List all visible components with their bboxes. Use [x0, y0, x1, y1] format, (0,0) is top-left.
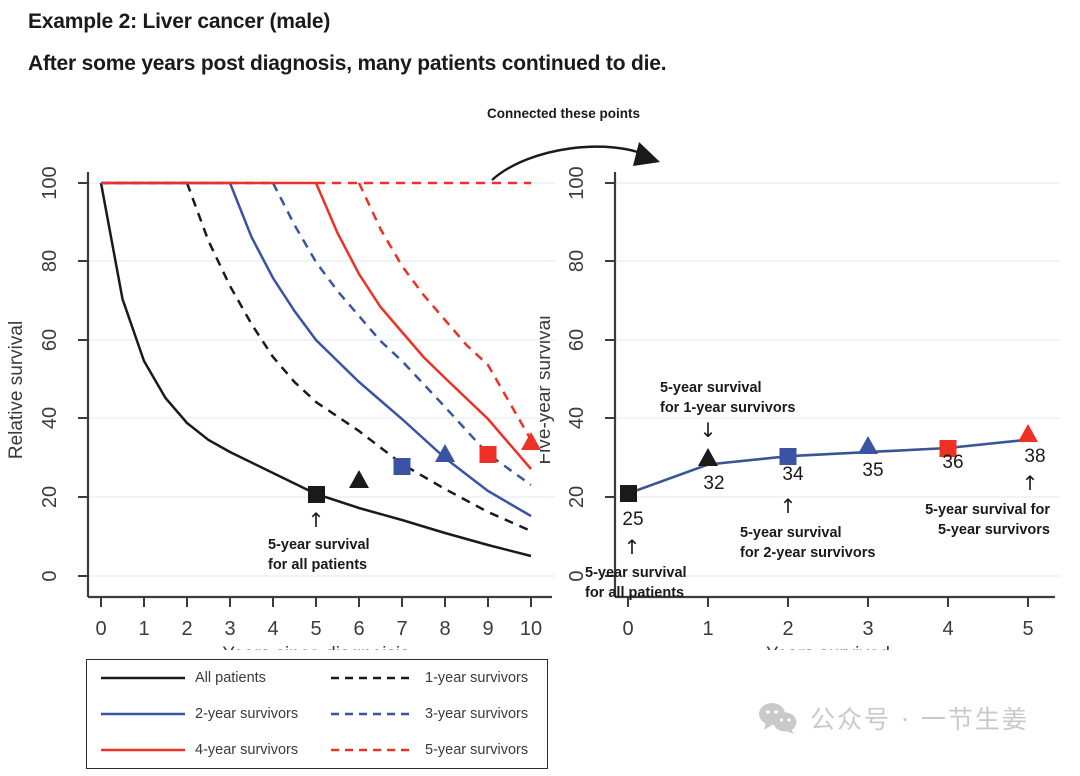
point-label-0: 25 [622, 509, 643, 530]
svg-text:0: 0 [622, 618, 633, 640]
right-marker-square-black [620, 485, 637, 502]
right-ann-1yr-line1: 5-year survival [660, 380, 762, 396]
legend-item-1yr: 1-year survivors [317, 670, 547, 686]
chart-legend: All patients 1-year survivors 2-year sur… [86, 659, 548, 769]
marker-square-red [480, 446, 497, 463]
left-annotation-arrow: ↑ [308, 508, 325, 532]
svg-text:80: 80 [566, 250, 588, 272]
svg-text:2: 2 [782, 618, 793, 640]
legend-item-all-patients: All patients [87, 670, 317, 686]
point-label-1: 32 [703, 473, 724, 494]
right-ann-5yr-arrow: ↑ [1022, 471, 1039, 495]
point-label-5: 38 [1024, 446, 1045, 467]
marker-triangle-red [521, 432, 541, 450]
marker-square-blue [394, 458, 411, 475]
left-annotation-line1: 5-year survival [268, 537, 370, 553]
right-ann-all-line2: for all patients [585, 585, 684, 601]
legend-label-2yr: 2-year survivors [195, 706, 298, 722]
slide-title-line-1: Example 2: Liver cancer (male) [28, 10, 330, 34]
right-chart-trend-line [628, 440, 1028, 494]
marker-triangle-black [349, 470, 369, 488]
svg-text:40: 40 [566, 407, 588, 429]
legend-label-3yr: 3-year survivors [425, 706, 528, 722]
legend-item-4yr: 4-year survivors [87, 742, 317, 758]
right-ann-2yr-line2: for 2-year survivors [740, 545, 875, 561]
point-label-2: 34 [782, 464, 804, 485]
svg-text:3: 3 [862, 618, 873, 640]
svg-text:4: 4 [942, 618, 953, 640]
legend-item-3yr: 3-year survivors [317, 706, 547, 722]
legend-item-2yr: 2-year survivors [87, 706, 317, 722]
slide-title-line-2: After some years post diagnosis, many pa… [28, 52, 666, 76]
right-ann-1yr-line2: for 1-year survivors [660, 400, 795, 416]
legend-swatch-2yr [101, 707, 185, 721]
right-ann-2yr-line1: 5-year survival [740, 525, 842, 541]
right-ann-1yr-arrow: ↓ [700, 418, 717, 442]
legend-label-all-patients: All patients [195, 670, 266, 686]
legend-label-1yr: 1-year survivors [425, 670, 528, 686]
legend-swatch-5yr [331, 743, 415, 757]
right-chart-y-ticklabels: 100 80 60 40 20 0 [566, 166, 588, 581]
right-ann-all-line1: 5-year survival [585, 565, 687, 581]
point-label-4: 36 [942, 452, 963, 473]
series-2yr-line [230, 183, 531, 516]
svg-text:100: 100 [566, 166, 588, 199]
svg-text:60: 60 [566, 329, 588, 351]
right-chart-x-ticklabels: 0 1 2 3 4 5 [622, 618, 1033, 640]
connected-points-annotation: Connected these points [487, 106, 640, 121]
legend-swatch-all-patients [101, 671, 185, 685]
left-annotation-line2: for all patients [268, 557, 367, 573]
right-ann-all-arrow: ↑ [624, 535, 641, 559]
right-marker-triangle-black [698, 448, 718, 466]
wechat-icon [758, 702, 798, 734]
legend-item-5yr: 5-year survivors [317, 742, 547, 758]
legend-label-5yr: 5-year survivors [425, 742, 528, 758]
right-marker-triangle-blue [858, 436, 878, 454]
svg-text:5: 5 [1022, 618, 1033, 640]
svg-text:1: 1 [702, 618, 713, 640]
legend-swatch-1yr [331, 671, 415, 685]
right-marker-square-blue [780, 448, 797, 465]
right-chart-x-axis-label: Years survived [766, 644, 890, 650]
legend-swatch-4yr [101, 743, 185, 757]
left-chart-plot: ↑ 5-year survival for all patients [0, 150, 560, 650]
right-chart: 100 80 60 40 20 0 Five-year survival 0 1… [540, 150, 1080, 650]
right-ann-5yr-line2: 5-year survivors [938, 522, 1050, 538]
legend-label-4yr: 4-year survivors [195, 742, 298, 758]
slide-root: Example 2: Liver cancer (male) After som… [0, 0, 1080, 776]
legend-swatch-3yr [331, 707, 415, 721]
series-4yr-line [316, 183, 531, 469]
watermark-text: 公众号 · 一节生姜 [810, 700, 1029, 736]
right-ann-5yr-line1: 5-year survival for [925, 502, 1050, 518]
right-chart-y-axis-label: Five-year survival [540, 316, 555, 465]
wechat-watermark: 公众号 · 一节生姜 [758, 700, 1029, 736]
svg-text:20: 20 [566, 486, 588, 508]
marker-square-black [308, 486, 325, 503]
right-ann-2yr-arrow: ↑ [780, 494, 797, 518]
right-marker-triangle-red [1018, 424, 1038, 442]
point-label-3: 35 [862, 460, 883, 481]
